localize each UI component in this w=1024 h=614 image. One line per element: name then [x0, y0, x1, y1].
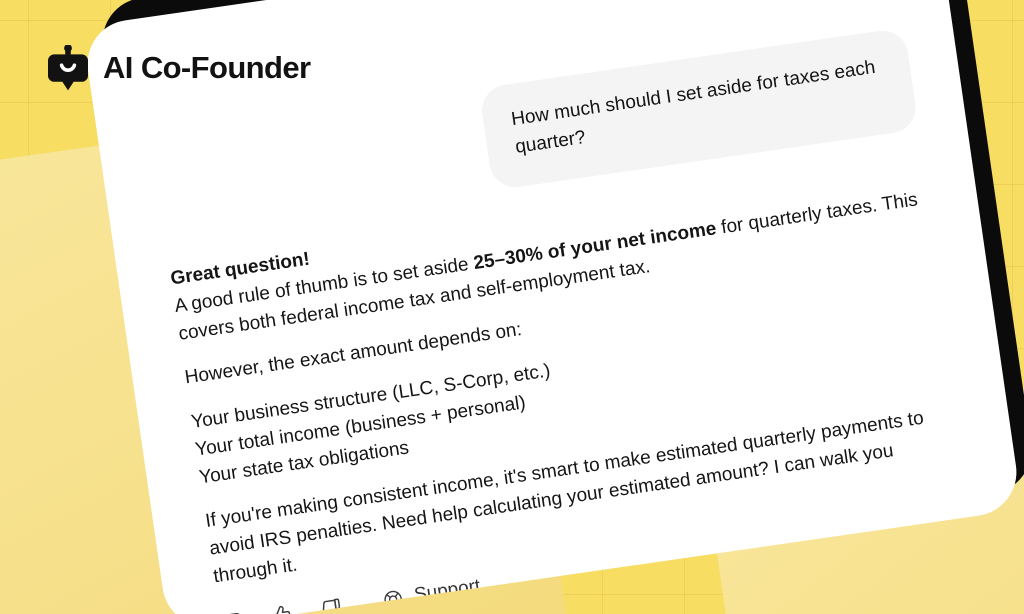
- brand-name: AI Co-Founder: [103, 50, 310, 86]
- chat-card-container: How much should I set aside for taxes ea…: [82, 0, 1022, 614]
- robot-head-icon: [46, 45, 90, 91]
- thumbs-up-icon[interactable]: [268, 602, 295, 614]
- brand-logo[interactable]: AI Co-Founder: [46, 45, 310, 91]
- app-root: AI Co-Founder How much should I set asid…: [0, 0, 1024, 614]
- chat-card: How much should I set aside for taxes ea…: [82, 0, 1022, 614]
- copy-icon[interactable]: [219, 609, 246, 614]
